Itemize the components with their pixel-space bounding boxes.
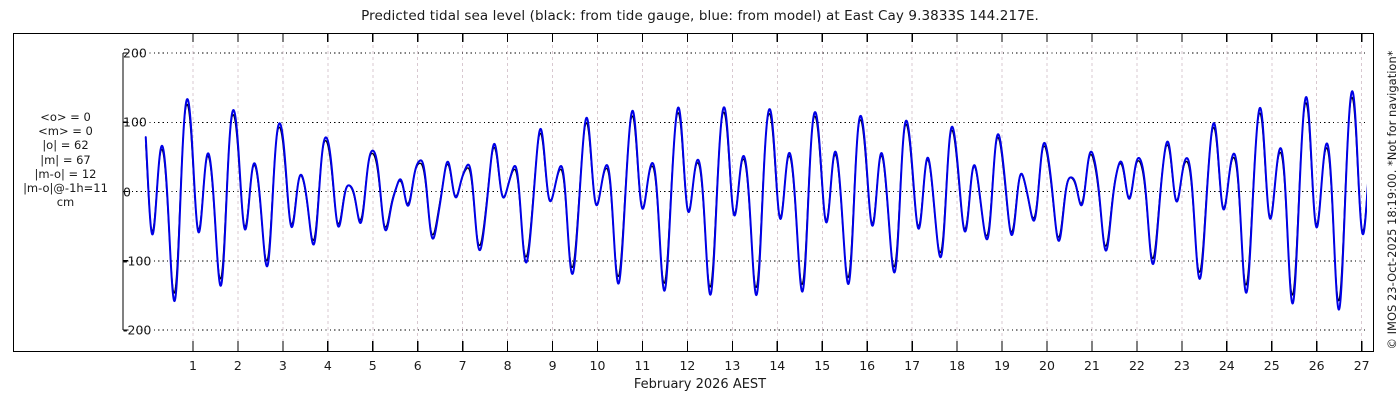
x-axis-tick-label: 23 xyxy=(1174,358,1190,373)
x-axis-tick-label: 14 xyxy=(769,358,785,373)
x-axis-tick-label: 13 xyxy=(724,358,740,373)
statistics-line: |o| = 62 xyxy=(14,138,117,152)
x-axis-tick-label: 2 xyxy=(234,358,242,373)
statistics-line: <o> = 0 xyxy=(14,110,117,124)
x-axis-tick-label: 24 xyxy=(1219,358,1235,373)
y-axis-tick-label: 200 xyxy=(123,46,147,61)
statistics-line: |m-o| = 12 xyxy=(14,167,117,181)
x-axis-tick-label: 10 xyxy=(590,358,606,373)
x-axis-tick-label: 4 xyxy=(324,358,332,373)
x-axis-tick-label: 26 xyxy=(1309,358,1325,373)
x-axis-tick-label: 15 xyxy=(814,358,830,373)
x-axis-tick-label: 8 xyxy=(504,358,512,373)
x-axis-tick-label: 25 xyxy=(1264,358,1280,373)
y-axis-tick-label: 0 xyxy=(123,184,131,199)
copyright-notice: © IMOS 23-Oct-2025 18:19:00. *Not for na… xyxy=(1382,0,1400,400)
statistics-line: |m| = 67 xyxy=(14,153,117,167)
x-axis-tick-label: 5 xyxy=(369,358,377,373)
x-axis-title: February 2026 AEST xyxy=(0,377,1400,392)
x-axis-tick-label: 16 xyxy=(859,358,875,373)
x-axis-tick-label: 9 xyxy=(549,358,557,373)
x-axis-tick-label: 12 xyxy=(679,358,695,373)
y-axis-tick-label: 100 xyxy=(123,115,147,130)
statistics-annotation: <o> = 0<m> = 0|o| = 62|m| = 67|m-o| = 12… xyxy=(14,110,117,209)
statistics-line: |m-o|@-1h=11 xyxy=(14,181,117,195)
x-axis-tick-label: 19 xyxy=(994,358,1010,373)
statistics-line: <m> = 0 xyxy=(14,124,117,138)
series-model-line xyxy=(146,91,1367,310)
x-axis-tick-label: 18 xyxy=(949,358,965,373)
x-axis-tick-label: 1 xyxy=(189,358,197,373)
x-axis-tick-label: 7 xyxy=(459,358,467,373)
y-axis-tick-label: -200 xyxy=(123,323,151,338)
tidal-series-svg xyxy=(118,33,1367,352)
tidal-chart-page: Predicted tidal sea level (black: from t… xyxy=(0,0,1400,400)
x-axis-tick-label: 3 xyxy=(279,358,287,373)
series-observed-line xyxy=(146,97,1367,301)
x-axis-tick-label: 21 xyxy=(1084,358,1100,373)
x-axis-tick-label: 6 xyxy=(414,358,422,373)
x-axis-tick-label: 22 xyxy=(1129,358,1145,373)
x-axis-tick-label: 27 xyxy=(1354,358,1370,373)
x-axis-tick-label: 17 xyxy=(904,358,920,373)
plot-area xyxy=(118,33,1367,352)
page-title: Predicted tidal sea level (black: from t… xyxy=(0,8,1400,24)
x-axis-tick-label: 20 xyxy=(1039,358,1055,373)
statistics-line: cm xyxy=(14,195,117,209)
y-axis-tick-label: -100 xyxy=(123,253,151,268)
copyright-text: © IMOS 23-Oct-2025 18:19:00. *Not for na… xyxy=(1385,51,1399,350)
x-axis-tick-label: 11 xyxy=(634,358,650,373)
